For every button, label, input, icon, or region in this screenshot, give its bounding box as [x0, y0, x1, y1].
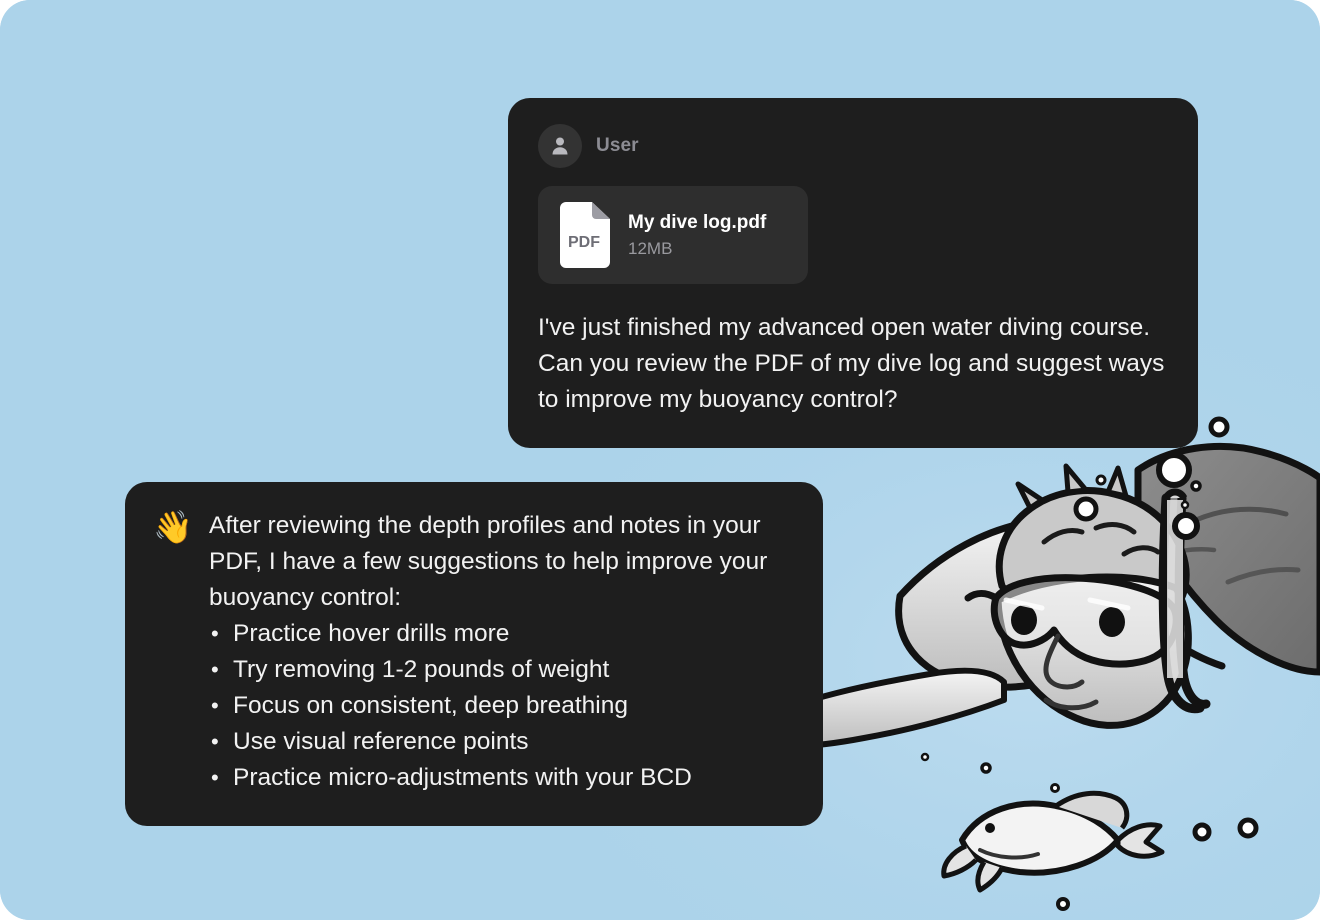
svg-text:PDF: PDF: [568, 234, 600, 251]
water-bubbles: [922, 386, 1256, 910]
user-message-header: User: [538, 124, 1168, 168]
list-item: Practice hover drills more: [209, 616, 793, 652]
pdf-file-name: My dive log.pdf: [628, 212, 766, 234]
assistant-message-bubble: 👋 After reviewing the depth profiles and…: [125, 482, 823, 826]
assistant-intro-text: After reviewing the depth profiles and n…: [209, 512, 767, 611]
pdf-attachment-card[interactable]: PDF My dive log.pdf 12MB: [538, 186, 808, 284]
list-item: Focus on consistent, deep breathing: [209, 688, 793, 724]
pdf-file-size: 12MB: [628, 239, 766, 259]
list-item: Try removing 1-2 pounds of weight: [209, 652, 793, 688]
list-item: Use visual reference points: [209, 724, 793, 760]
pdf-attachment-meta: My dive log.pdf 12MB: [628, 212, 766, 259]
message-author-label: User: [596, 135, 639, 157]
user-message-text: I've just finished my advanced open wate…: [538, 310, 1168, 418]
list-item: Practice micro-adjustments with your BCD: [209, 760, 793, 796]
waving-hand-emoji: 👋: [153, 510, 193, 544]
chat-canvas: User PDF My dive log.pdf 12MB I've just …: [0, 0, 1320, 920]
suggestion-list: Practice hover drills more Try removing …: [153, 616, 793, 796]
assistant-intro-block: 👋 After reviewing the depth profiles and…: [153, 508, 793, 616]
user-message-bubble: User PDF My dive log.pdf 12MB I've just …: [508, 98, 1198, 448]
person-avatar-icon: [538, 124, 582, 168]
fish-illustration: [944, 793, 1162, 890]
pdf-file-icon: PDF: [556, 202, 610, 268]
